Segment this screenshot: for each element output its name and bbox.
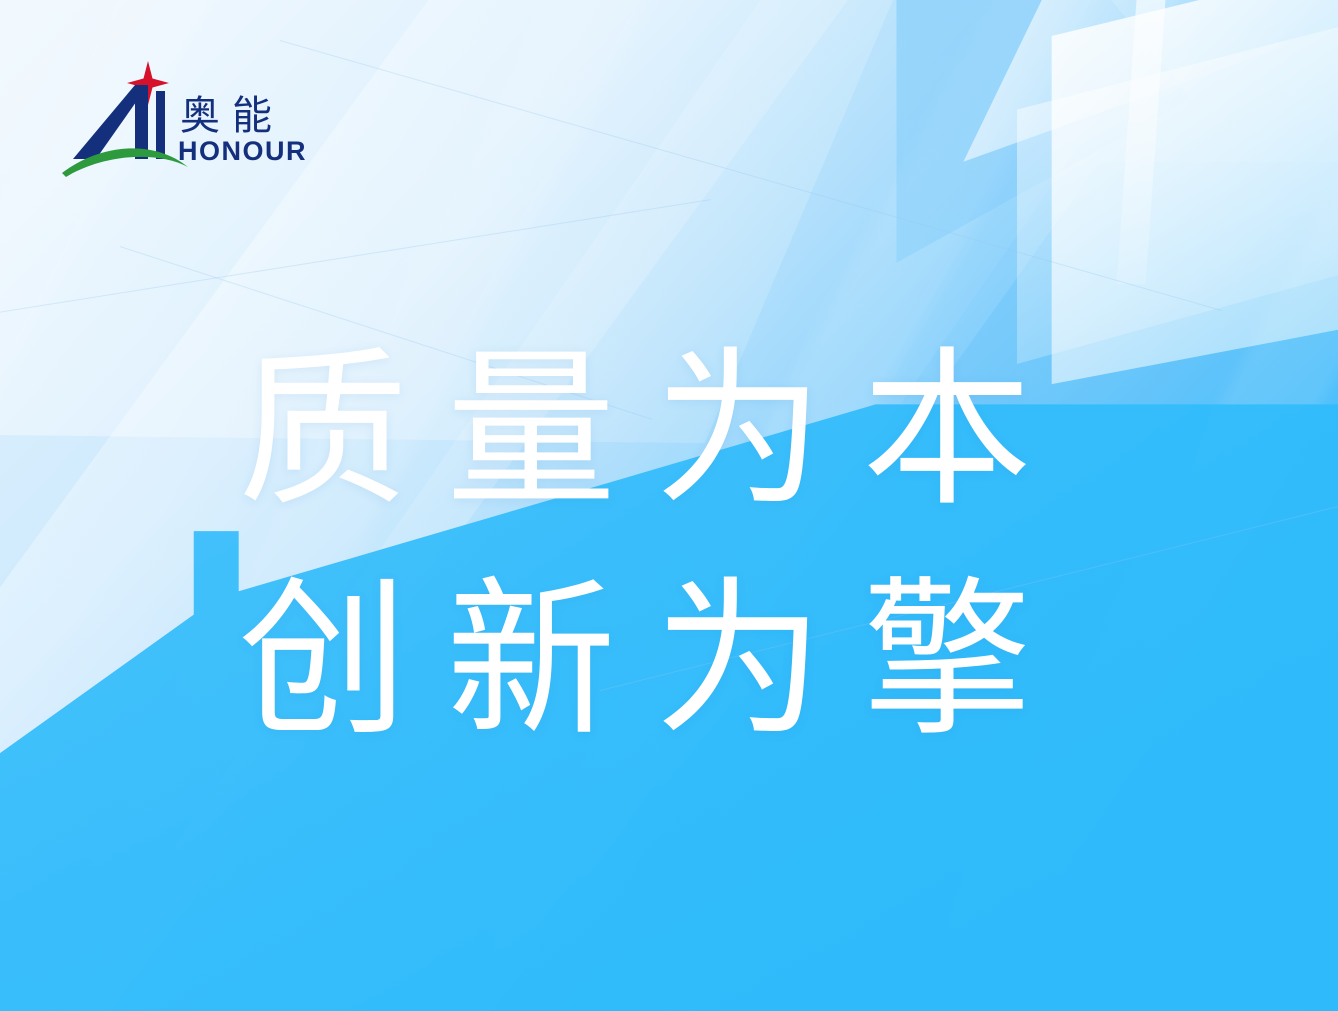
slogan-block: 质量为本 创新为擎 <box>238 320 1128 772</box>
brand-name-cn: 奥能 <box>180 93 284 139</box>
poster-canvas: 奥能 HONOUR 质量为本 创新为擎 <box>0 0 1338 1011</box>
slogan-line-1: 质量为本 <box>238 320 1128 542</box>
mountain-a-icon <box>73 85 165 159</box>
slogan-line-2: 创新为擎 <box>238 550 1128 772</box>
brand-logo[interactable]: 奥能 HONOUR <box>60 55 310 195</box>
brand-name-en: HONOUR <box>178 136 307 166</box>
